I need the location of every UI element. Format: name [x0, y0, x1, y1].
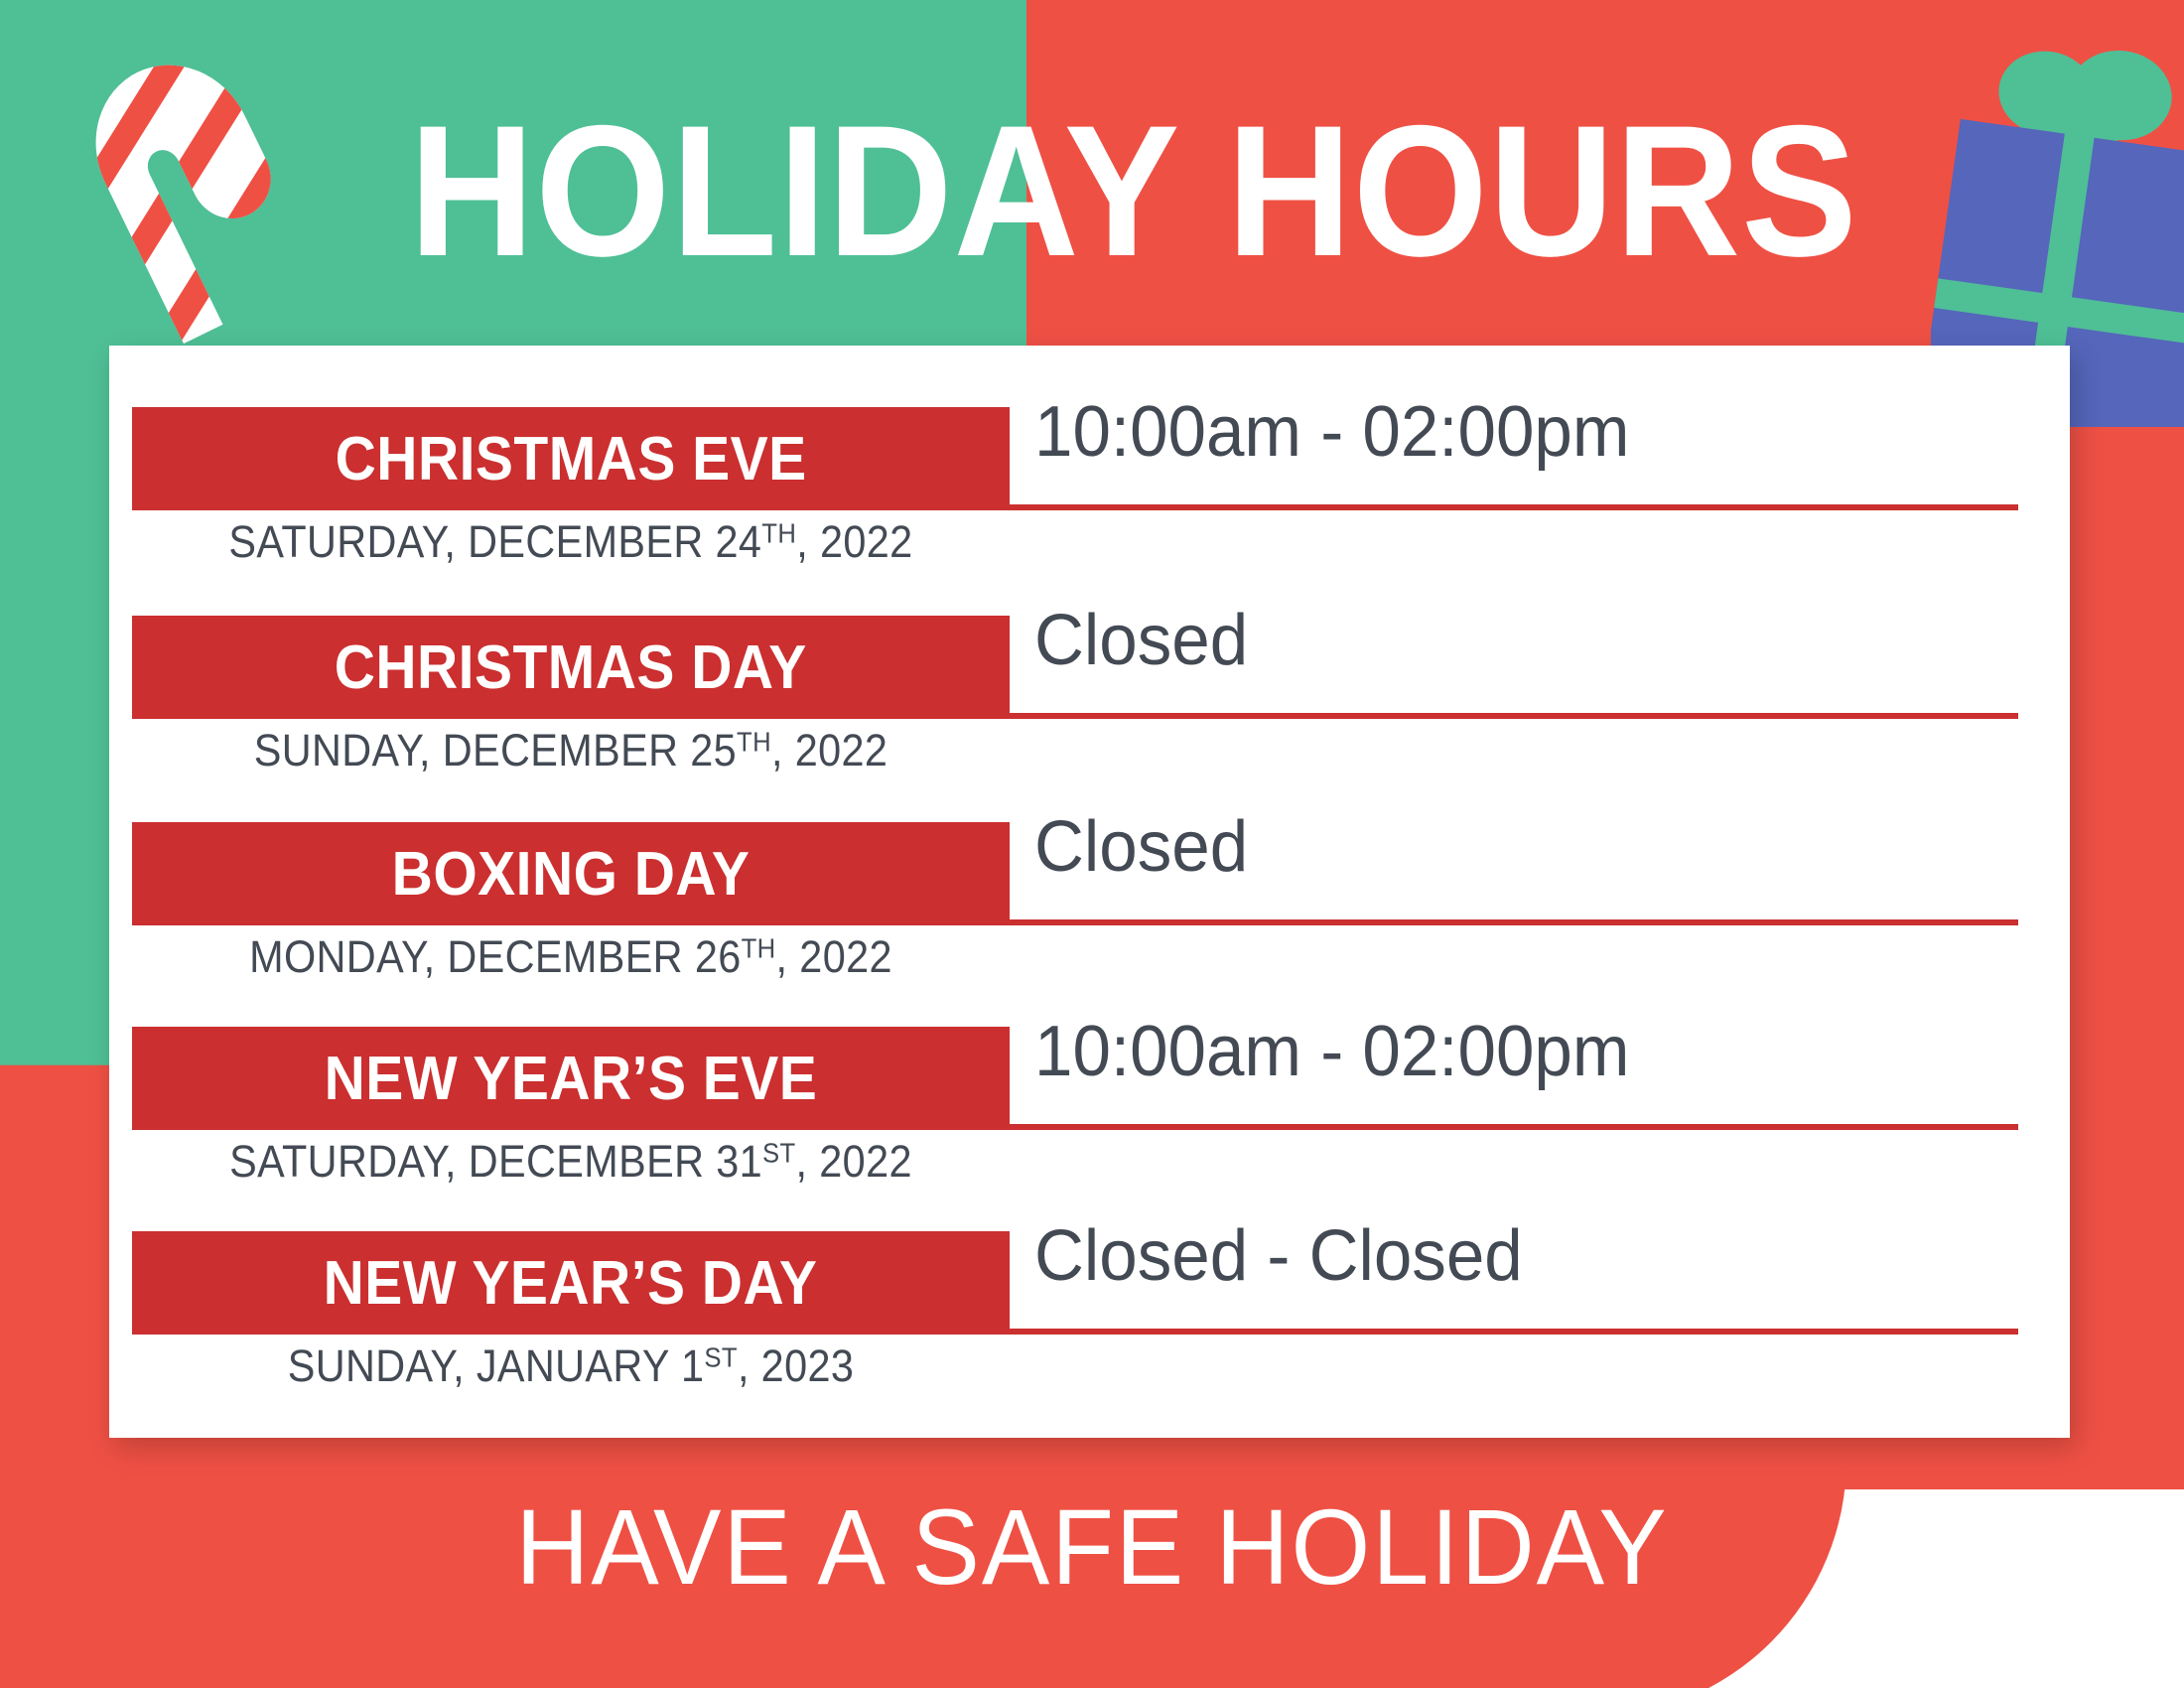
date-suffix: , 2022: [776, 931, 892, 982]
holiday-name-bar: CHRISTMAS EVE: [132, 407, 1010, 510]
date-suffix: , 2022: [771, 725, 887, 775]
holiday-date-label: SATURDAY, DECEMBER 24TH, 2022: [146, 516, 996, 568]
holiday-date-label: SUNDAY, JANUARY 1ST, 2023: [146, 1340, 996, 1392]
table-row: CHRISTMAS EVE 10:00am - 02:00pm SATURDAY…: [109, 407, 2070, 510]
table-row: CHRISTMAS DAY Closed SUNDAY, DECEMBER 25…: [109, 616, 2070, 719]
holiday-name-label: CHRISTMAS EVE: [335, 424, 806, 494]
table-row: NEW YEAR’S EVE 10:00am - 02:00pm SATURDA…: [109, 1027, 2070, 1130]
date-prefix: MONDAY, DECEMBER 26: [249, 931, 741, 982]
schedule-row-band: CHRISTMAS EVE 10:00am - 02:00pm SATURDAY…: [109, 407, 2070, 510]
footer-message: HAVE A SAFE HOLIDAY: [55, 1484, 2129, 1609]
holiday-name-label: CHRISTMAS DAY: [335, 633, 807, 703]
holiday-name-label: NEW YEAR’S EVE: [325, 1044, 818, 1114]
hours-value: Closed: [1034, 600, 1248, 681]
holiday-date-label: MONDAY, DECEMBER 26TH, 2022: [146, 931, 996, 983]
page-title: HOLIDAY HOURS: [76, 97, 2108, 284]
table-row: NEW YEAR’S DAY Closed - Closed SUNDAY, J…: [109, 1231, 2070, 1335]
date-ordinal: TH: [761, 518, 796, 549]
schedule-row-band: BOXING DAY Closed MONDAY, DECEMBER 26TH,…: [109, 822, 2070, 925]
holiday-name-bar: CHRISTMAS DAY: [132, 616, 1010, 719]
holiday-date-label: SUNDAY, DECEMBER 25TH, 2022: [146, 725, 996, 776]
holiday-name-bar: NEW YEAR’S DAY: [132, 1231, 1010, 1335]
hours-value: Closed: [1034, 806, 1248, 888]
holiday-name-label: BOXING DAY: [392, 839, 751, 910]
hours-underline: [1010, 919, 2018, 925]
holiday-name-label: NEW YEAR’S DAY: [324, 1248, 818, 1319]
schedule-card: CHRISTMAS EVE 10:00am - 02:00pm SATURDAY…: [109, 346, 2070, 1438]
hours-underline: [1010, 1329, 2018, 1335]
date-prefix: SATURDAY, DECEMBER 31: [229, 1136, 762, 1187]
schedule-rows: CHRISTMAS EVE 10:00am - 02:00pm SATURDAY…: [109, 346, 2070, 1438]
date-prefix: SUNDAY, DECEMBER 25: [254, 725, 737, 775]
hours-underline: [1010, 504, 2018, 510]
date-prefix: SATURDAY, DECEMBER 24: [228, 516, 761, 567]
date-suffix: , 2022: [796, 1136, 912, 1187]
schedule-row-band: NEW YEAR’S EVE 10:00am - 02:00pm SATURDA…: [109, 1027, 2070, 1130]
hours-value: 10:00am - 02:00pm: [1034, 391, 1629, 473]
holiday-hours-poster: HOLIDAY HOURS CHRISTMAS EVE 10:00am - 02…: [0, 0, 2184, 1688]
holiday-name-bar: BOXING DAY: [132, 822, 1010, 925]
date-ordinal: TH: [737, 727, 771, 758]
table-row: BOXING DAY Closed MONDAY, DECEMBER 26TH,…: [109, 822, 2070, 925]
date-suffix: , 2023: [738, 1340, 854, 1391]
holiday-date-label: SATURDAY, DECEMBER 31ST, 2022: [146, 1136, 996, 1188]
schedule-row-band: NEW YEAR’S DAY Closed - Closed SUNDAY, J…: [109, 1231, 2070, 1335]
holiday-name-bar: NEW YEAR’S EVE: [132, 1027, 1010, 1130]
hours-value: Closed - Closed: [1034, 1215, 1523, 1297]
date-prefix: SUNDAY, JANUARY 1: [288, 1340, 705, 1391]
hours-value: 10:00am - 02:00pm: [1034, 1011, 1629, 1092]
date-ordinal: ST: [704, 1342, 738, 1373]
date-suffix: , 2022: [796, 516, 912, 567]
hours-underline: [1010, 713, 2018, 719]
schedule-row-band: CHRISTMAS DAY Closed SUNDAY, DECEMBER 25…: [109, 616, 2070, 719]
date-ordinal: TH: [742, 933, 776, 964]
hours-underline: [1010, 1124, 2018, 1130]
date-ordinal: ST: [762, 1138, 796, 1169]
